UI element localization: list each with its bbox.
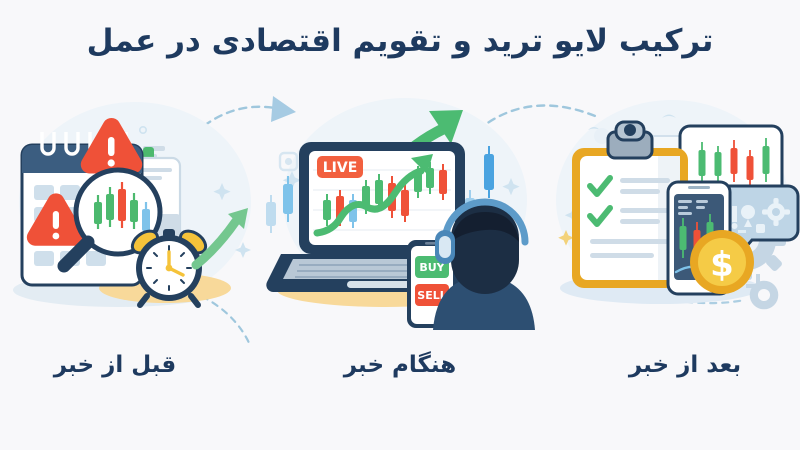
live-badge-label: LIVE [323,160,358,176]
dollar-coin-icon: $ [690,230,754,294]
coin-symbol: $ [710,245,734,285]
illustration-before-news: NEWS [0,90,270,330]
panel-label-before-news: قبل از خبر [15,352,215,378]
panel-label-during-news: هنگام خبر [300,352,500,378]
live-badge: LIVE [317,156,363,178]
panel-label-after-news: بعد از خبر [585,352,785,378]
illustration-after-news: $ [550,90,800,330]
infographic-canvas: ترکیب لایو ترید و تقویم اقتصادی در عمل [0,0,800,450]
illustration-during-news: LIVE BUY SELL [255,90,545,330]
